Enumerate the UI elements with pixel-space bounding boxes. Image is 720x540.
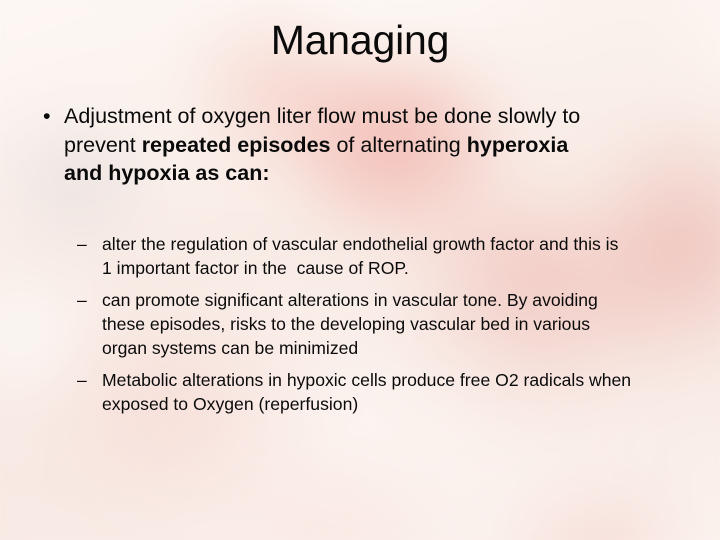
dash-marker-icon: – (77, 368, 87, 392)
sub-bullet-item-text: alter the regulation of vascular endothe… (102, 234, 623, 278)
sub-bullet-item: – alter the regulation of vascular endot… (72, 232, 632, 280)
bullet-run-plain-2: of alternating (330, 133, 466, 157)
dash-marker-icon: – (77, 288, 87, 312)
sub-bullet-item-text: Metabolic alterations in hypoxic cells p… (102, 370, 636, 414)
bullet-run-bold-1: repeated episodes (142, 133, 331, 157)
sub-bullet-item: – Metabolic alterations in hypoxic cells… (72, 368, 632, 416)
bullet-item: • Adjustment of oxygen liter flow must b… (32, 102, 598, 188)
sub-bullet-item: – can promote significant alterations in… (72, 288, 632, 360)
bullet-list: • Adjustment of oxygen liter flow must b… (32, 102, 598, 188)
slide: Managing • Adjustment of oxygen liter fl… (0, 0, 720, 540)
dash-marker-icon: – (77, 232, 87, 256)
sub-bullet-list: – alter the regulation of vascular endot… (72, 232, 632, 416)
slide-title: Managing (0, 14, 720, 66)
bullet-item-text: Adjustment of oxygen liter flow must be … (64, 104, 580, 185)
slide-content: Managing • Adjustment of oxygen liter fl… (0, 0, 720, 540)
bullet-marker-icon: • (43, 102, 51, 131)
sub-bullet-item-text: can promote significant alterations in v… (102, 290, 603, 358)
